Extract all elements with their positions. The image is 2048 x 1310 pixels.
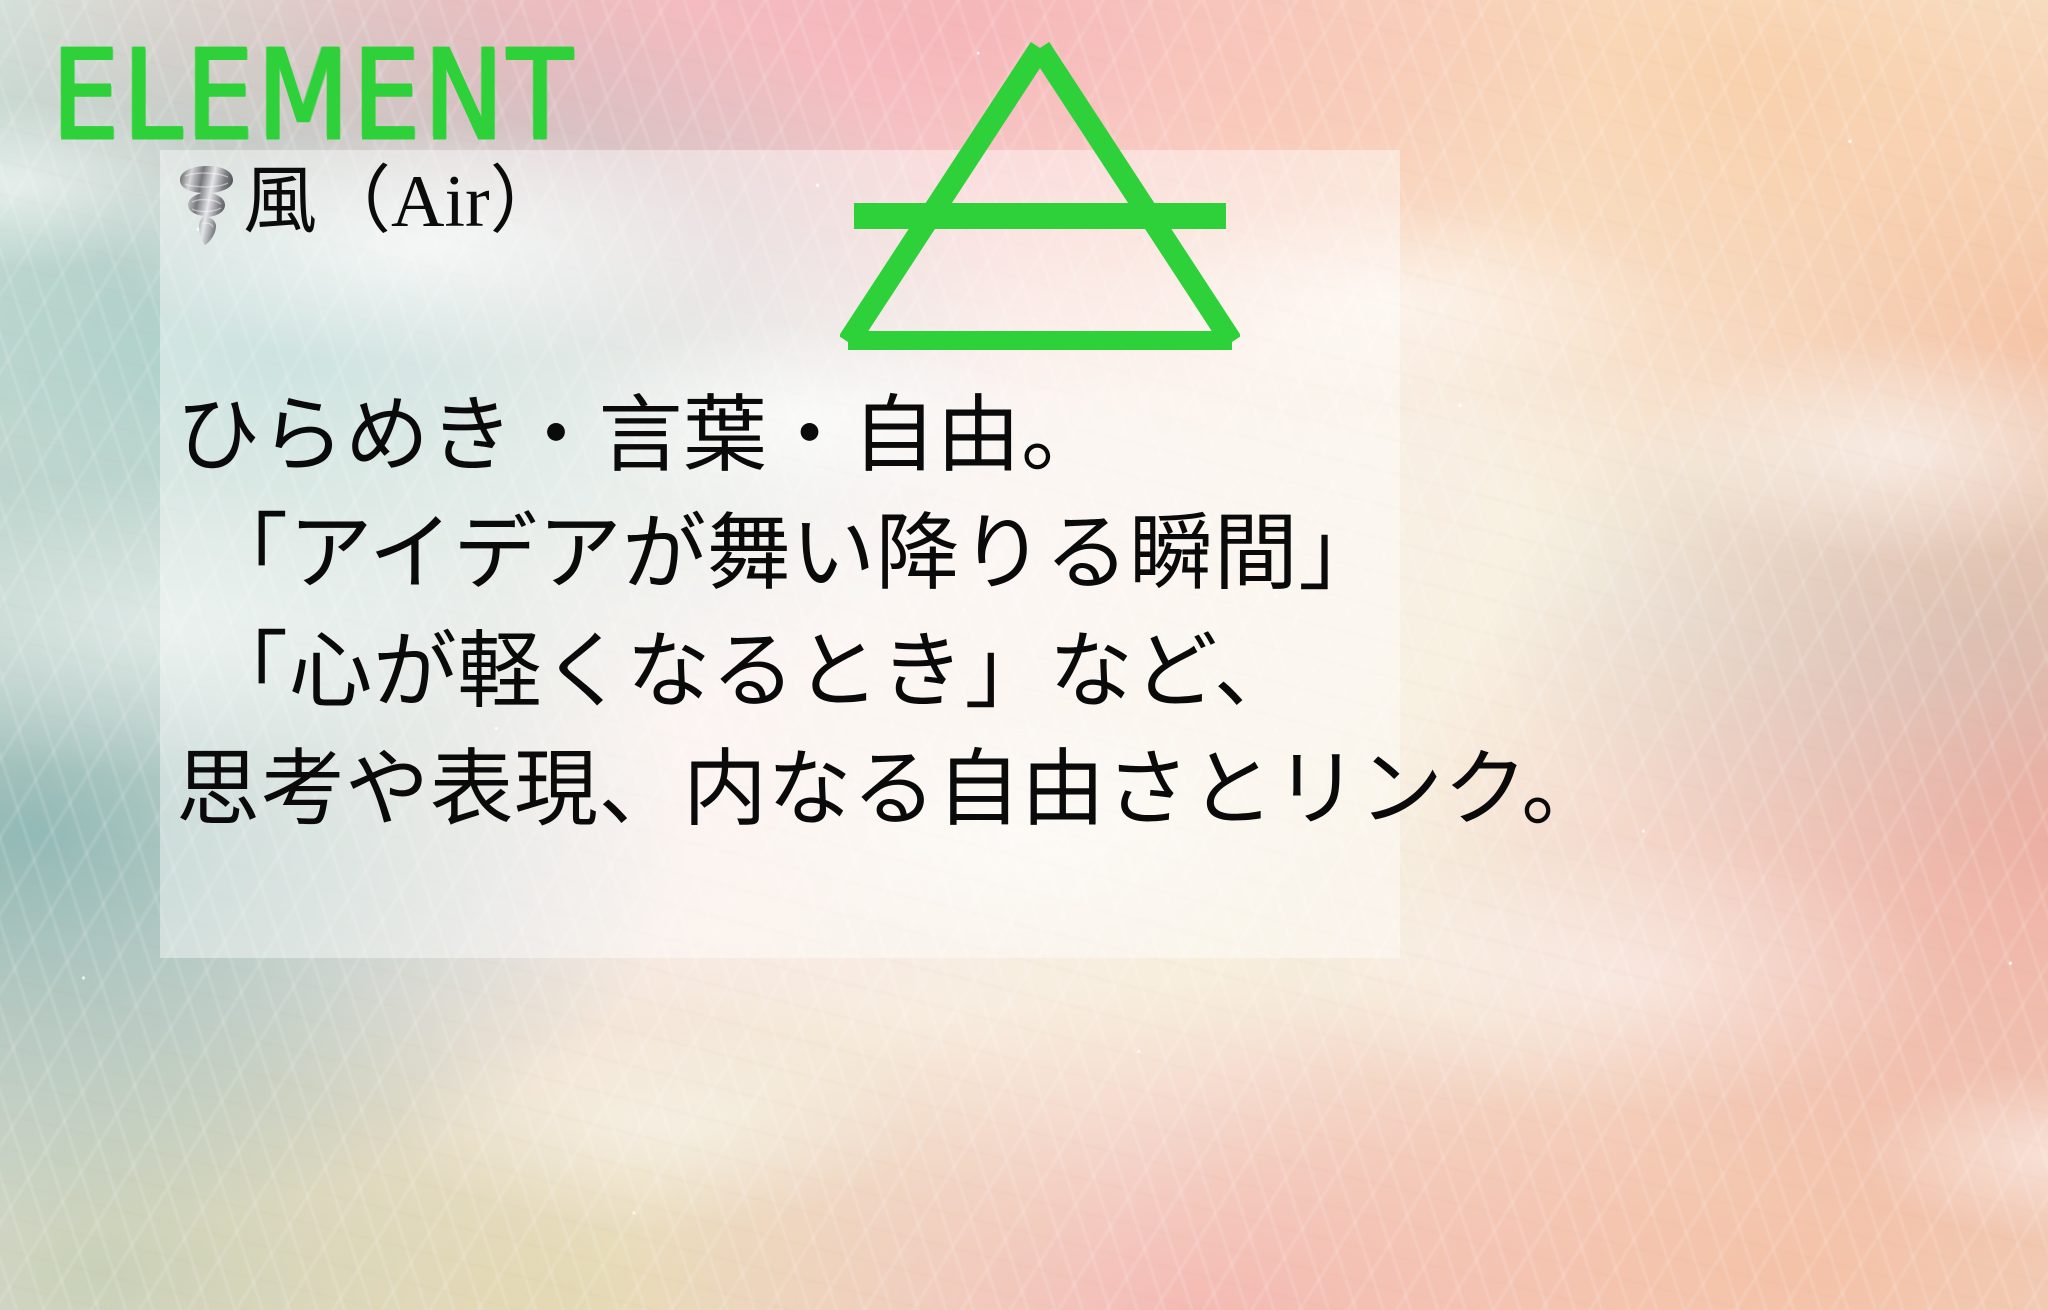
description-line-1: ひらめき・言葉・自由。	[176, 378, 1426, 496]
page-title-element: ELEMENT	[52, 34, 576, 157]
description-line-3: 「心が軽くなるとき」など、	[176, 614, 1426, 732]
element-name-heading: 風（Air）	[175, 160, 564, 246]
element-description: ひらめき・言葉・自由。 「アイデアが舞い降りる瞬間」 「心が軽くなるとき」など、…	[176, 378, 1426, 850]
element-name-label: 風（Air）	[243, 164, 564, 242]
description-line-4: 思考や表現、内なる自由さとリンク。	[176, 732, 1426, 850]
description-line-2: 「アイデアが舞い降りる瞬間」	[176, 496, 1426, 614]
tornado-icon	[175, 164, 237, 246]
